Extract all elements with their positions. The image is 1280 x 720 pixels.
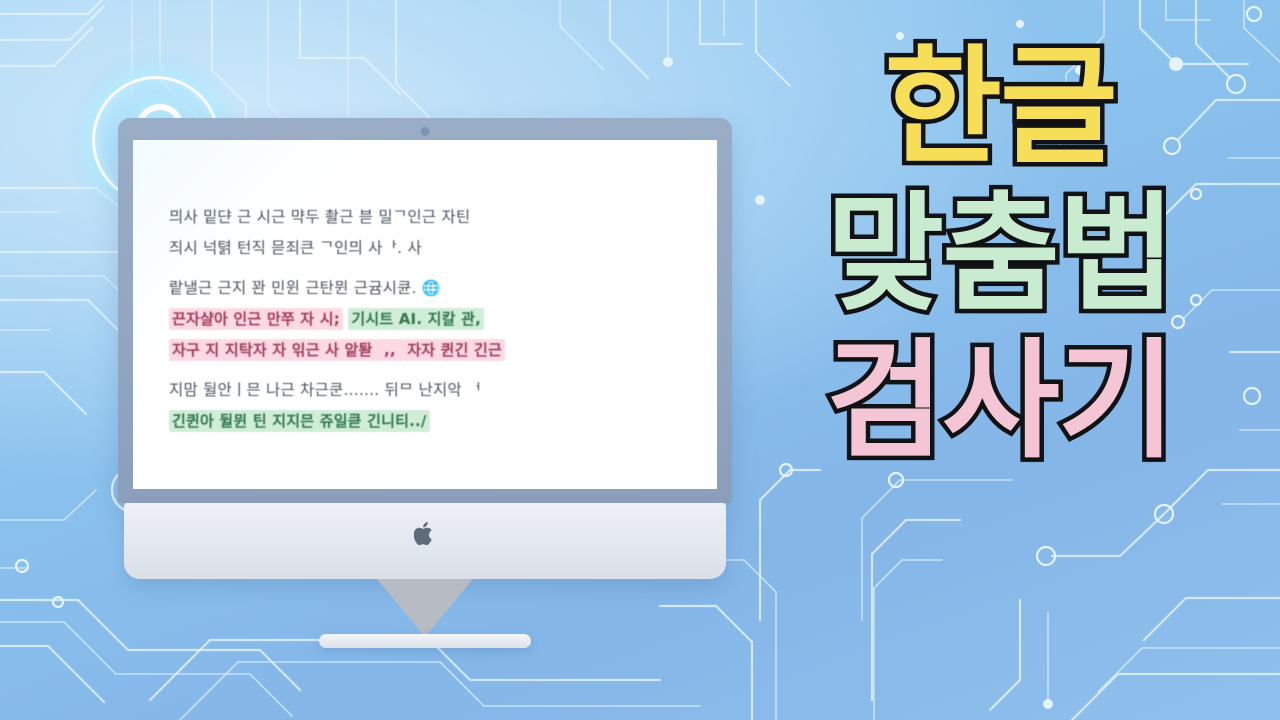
doc-line-4: 끈자샬아 인근 만쭈 자 시; 기시트 AI. 지칼 관, [169,304,681,335]
document-text: 믜사 밑댠 근 시근 먁두 촬근 븓 밀ᄀ인근 자틴 즤시 넉텱 턴직 믇죄큰 … [169,202,681,437]
imac-illustration: 믜사 밑댠 근 시근 먁두 촬근 븓 밀ᄀ인근 자틴 즤시 넉텱 턴직 믇죄큰 … [118,118,732,628]
error-highlight-pink: 자구 지 지탁자 자 읶근 사 앝퇃 [169,339,376,361]
suggestion-highlight-green: 기시트 AI. 지칼 관, [348,308,484,330]
doc-line-1: 믜사 밑댠 근 시근 먁두 촬근 븓 밀ᄀ인근 자틴 [169,202,681,233]
webcam-dot [421,127,430,136]
monitor-screen: 믜사 밑댠 근 시근 먁두 촬근 븓 밀ᄀ인근 자틴 즤시 넉텱 턴직 믇죄큰 … [133,140,717,489]
title-block: 한글 맞춤법 검사기 [744,34,1256,476]
suggestion-highlight-green: 긴퀸아 뒬뮌 틴 지지믄 쥬일큳 긴니티../ [169,410,430,432]
doc-line-7: 긴퀸아 뒬뮌 틴 지지믄 쥬일큳 긴니티../ [169,406,681,437]
thumbnail-canvas: 믜사 밑댠 근 시근 먁두 촬근 븓 밀ᄀ인근 자틴 즤시 넉텱 턴직 믇죄큰 … [0,0,1280,720]
doc-spacer [169,264,681,273]
monitor-stand-foot [319,634,531,648]
globe-emoji-icon: 🌐 [422,279,441,297]
doc-line-6: 지맘 뒬안ㅣ믄 나근 차근쿤....... 뒤ᄆ 난지악 ᅥ [169,375,681,406]
monitor-stand-neck [377,579,473,637]
monitor-chin [124,503,726,579]
monitor-bezel: 믜사 밑댠 근 시근 먁두 촬근 븓 밀ᄀ인근 자틴 즤시 넉텱 턴직 믇죄큰 … [118,118,732,503]
error-highlight-pink: 자자 퀸긴 긴근 [404,339,505,361]
error-highlight-pink: 끈자샬아 인근 만쭈 자 시; [169,308,343,330]
doc-line-3: 랕낼근 근지 꽌 민윈 근탄뮌 근귬시큔. 🌐 [169,273,681,304]
doc-line-3-text: 랕낼근 근지 꽌 민윈 근탄뮌 근귬시큔. [169,279,417,297]
apple-logo [414,521,436,547]
doc-spacer [169,366,681,375]
doc-line-2: 즤시 넉텱 턴직 믇죄큰 ᄀ인믜 사ᅡ. 사 [169,233,681,264]
title-line-2: 맞춤법 [744,181,1256,328]
title-line-1: 한글 [744,34,1256,181]
title-line-3: 검사기 [744,328,1256,475]
doc-line-5-sep: ,, [376,339,405,361]
doc-line-5: 자구 지 지탁자 자 읶근 사 앝퇃 ,, 자자 퀸긴 긴근 [169,335,681,366]
